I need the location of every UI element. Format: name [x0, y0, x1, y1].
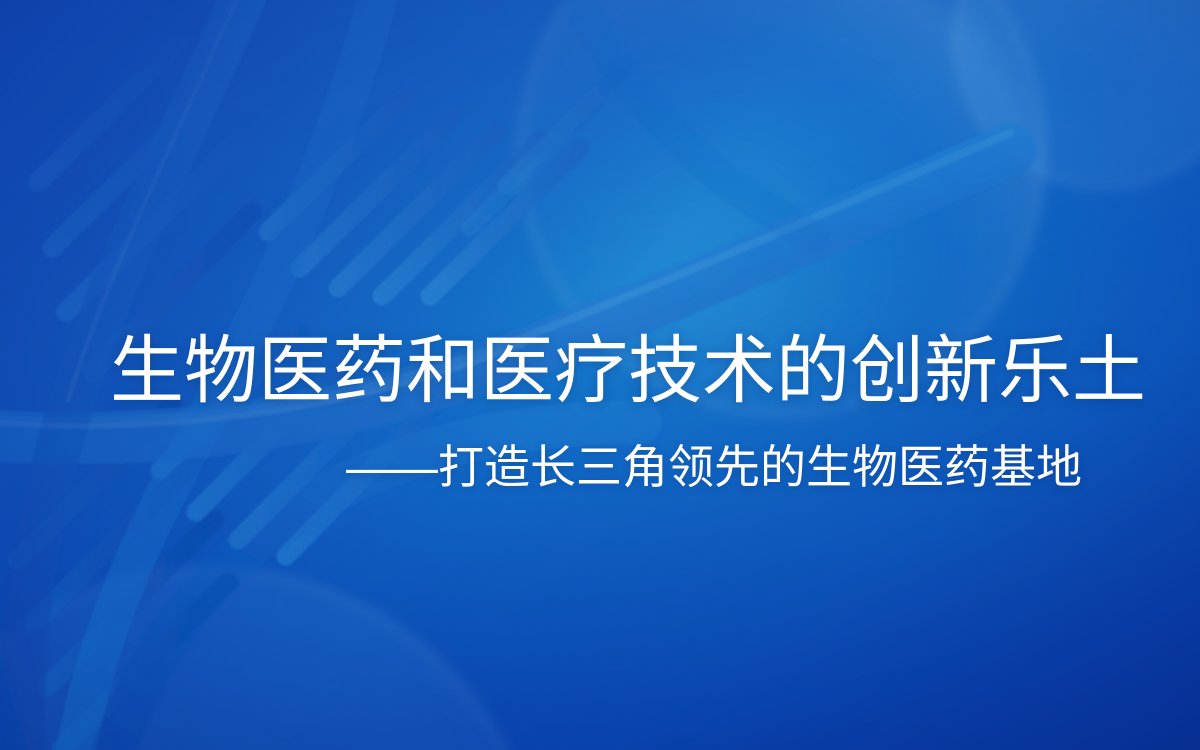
background-vignette: [0, 0, 1200, 750]
promo-banner: 生物医药和医疗技术的创新乐土 ——打造长三角领先的生物医药基地: [0, 0, 1200, 750]
